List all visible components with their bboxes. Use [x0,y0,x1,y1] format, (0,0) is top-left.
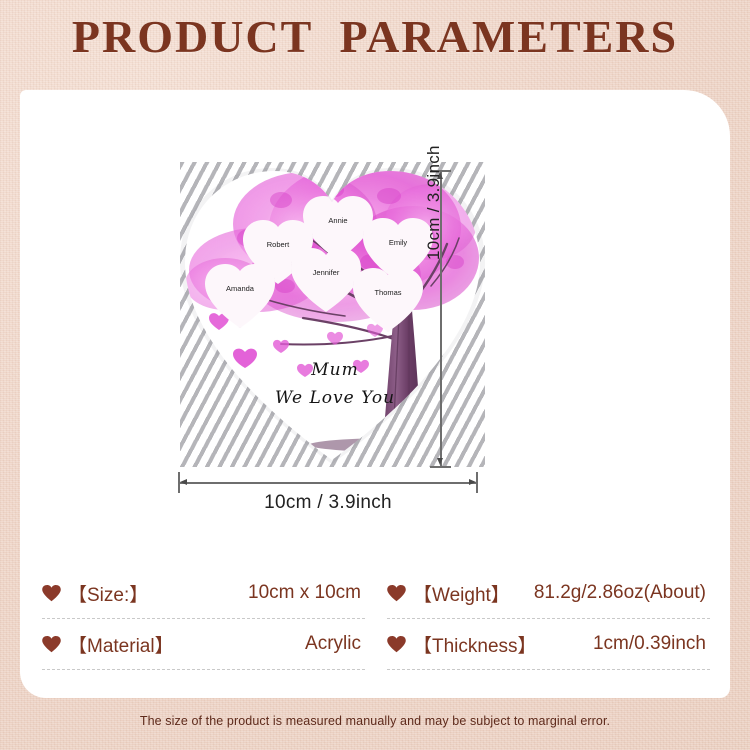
spec-row-thickness: 【Thickness】 1cm/0.39inch [387,619,710,670]
spec-label: 【Weight】 [413,580,510,607]
parameters-card: Annie Robert Emily Jennifer Amanda Thoma… [20,90,730,698]
spec-row-size: 【Size:】 10cm x 10cm [42,568,365,619]
heart-icon [387,636,406,653]
name-heart-label: Jennifer [313,268,340,277]
spec-value: 81.2g/2.86oz(About) [534,582,710,604]
heart-icon [387,585,406,602]
vertical-dimension-cap-bottom [430,466,451,468]
horizontal-dimension-arrow-right [469,479,476,485]
spec-value: Acrylic [305,633,365,655]
name-heart-label: Emily [389,238,407,247]
name-heart-label: Robert [267,240,290,249]
vertical-dimension-label: 10cm / 3.9inch [424,145,444,260]
spec-value: 1cm/0.39inch [593,633,710,655]
name-heart-label: Annie [328,216,347,225]
spec-label: 【Size:】 [68,580,148,607]
spec-label: 【Thickness】 [413,631,537,658]
horizontal-dimension-label: 10cm / 3.9inch [178,492,478,514]
spec-value: 10cm x 10cm [248,582,365,604]
horizontal-dimension-line [178,482,478,484]
heart-icon [42,636,61,653]
spec-label: 【Material】 [68,631,174,658]
spec-row-material: 【Material】 Acrylic [42,619,365,670]
heart-icon [42,585,61,602]
caption-line-1: Mum [240,358,430,384]
horizontal-dimension-cap-right [476,472,478,493]
name-heart-label: Amanda [226,284,254,293]
vertical-dimension-arrow-down [437,458,443,465]
product-illustration: Annie Robert Emily Jennifer Amanda Thoma… [20,90,730,530]
name-heart-label: Thomas [374,288,401,297]
specification-table: 【Size:】 10cm x 10cm 【Weight】 81.2g/2.86o… [42,568,710,670]
spec-row-weight: 【Weight】 81.2g/2.86oz(About) [387,568,710,619]
horizontal-dimension-arrow-left [180,479,187,485]
page-title: PRODUCT PARAMETERS [0,10,750,63]
footer-disclaimer: The size of the product is measured manu… [0,714,750,728]
